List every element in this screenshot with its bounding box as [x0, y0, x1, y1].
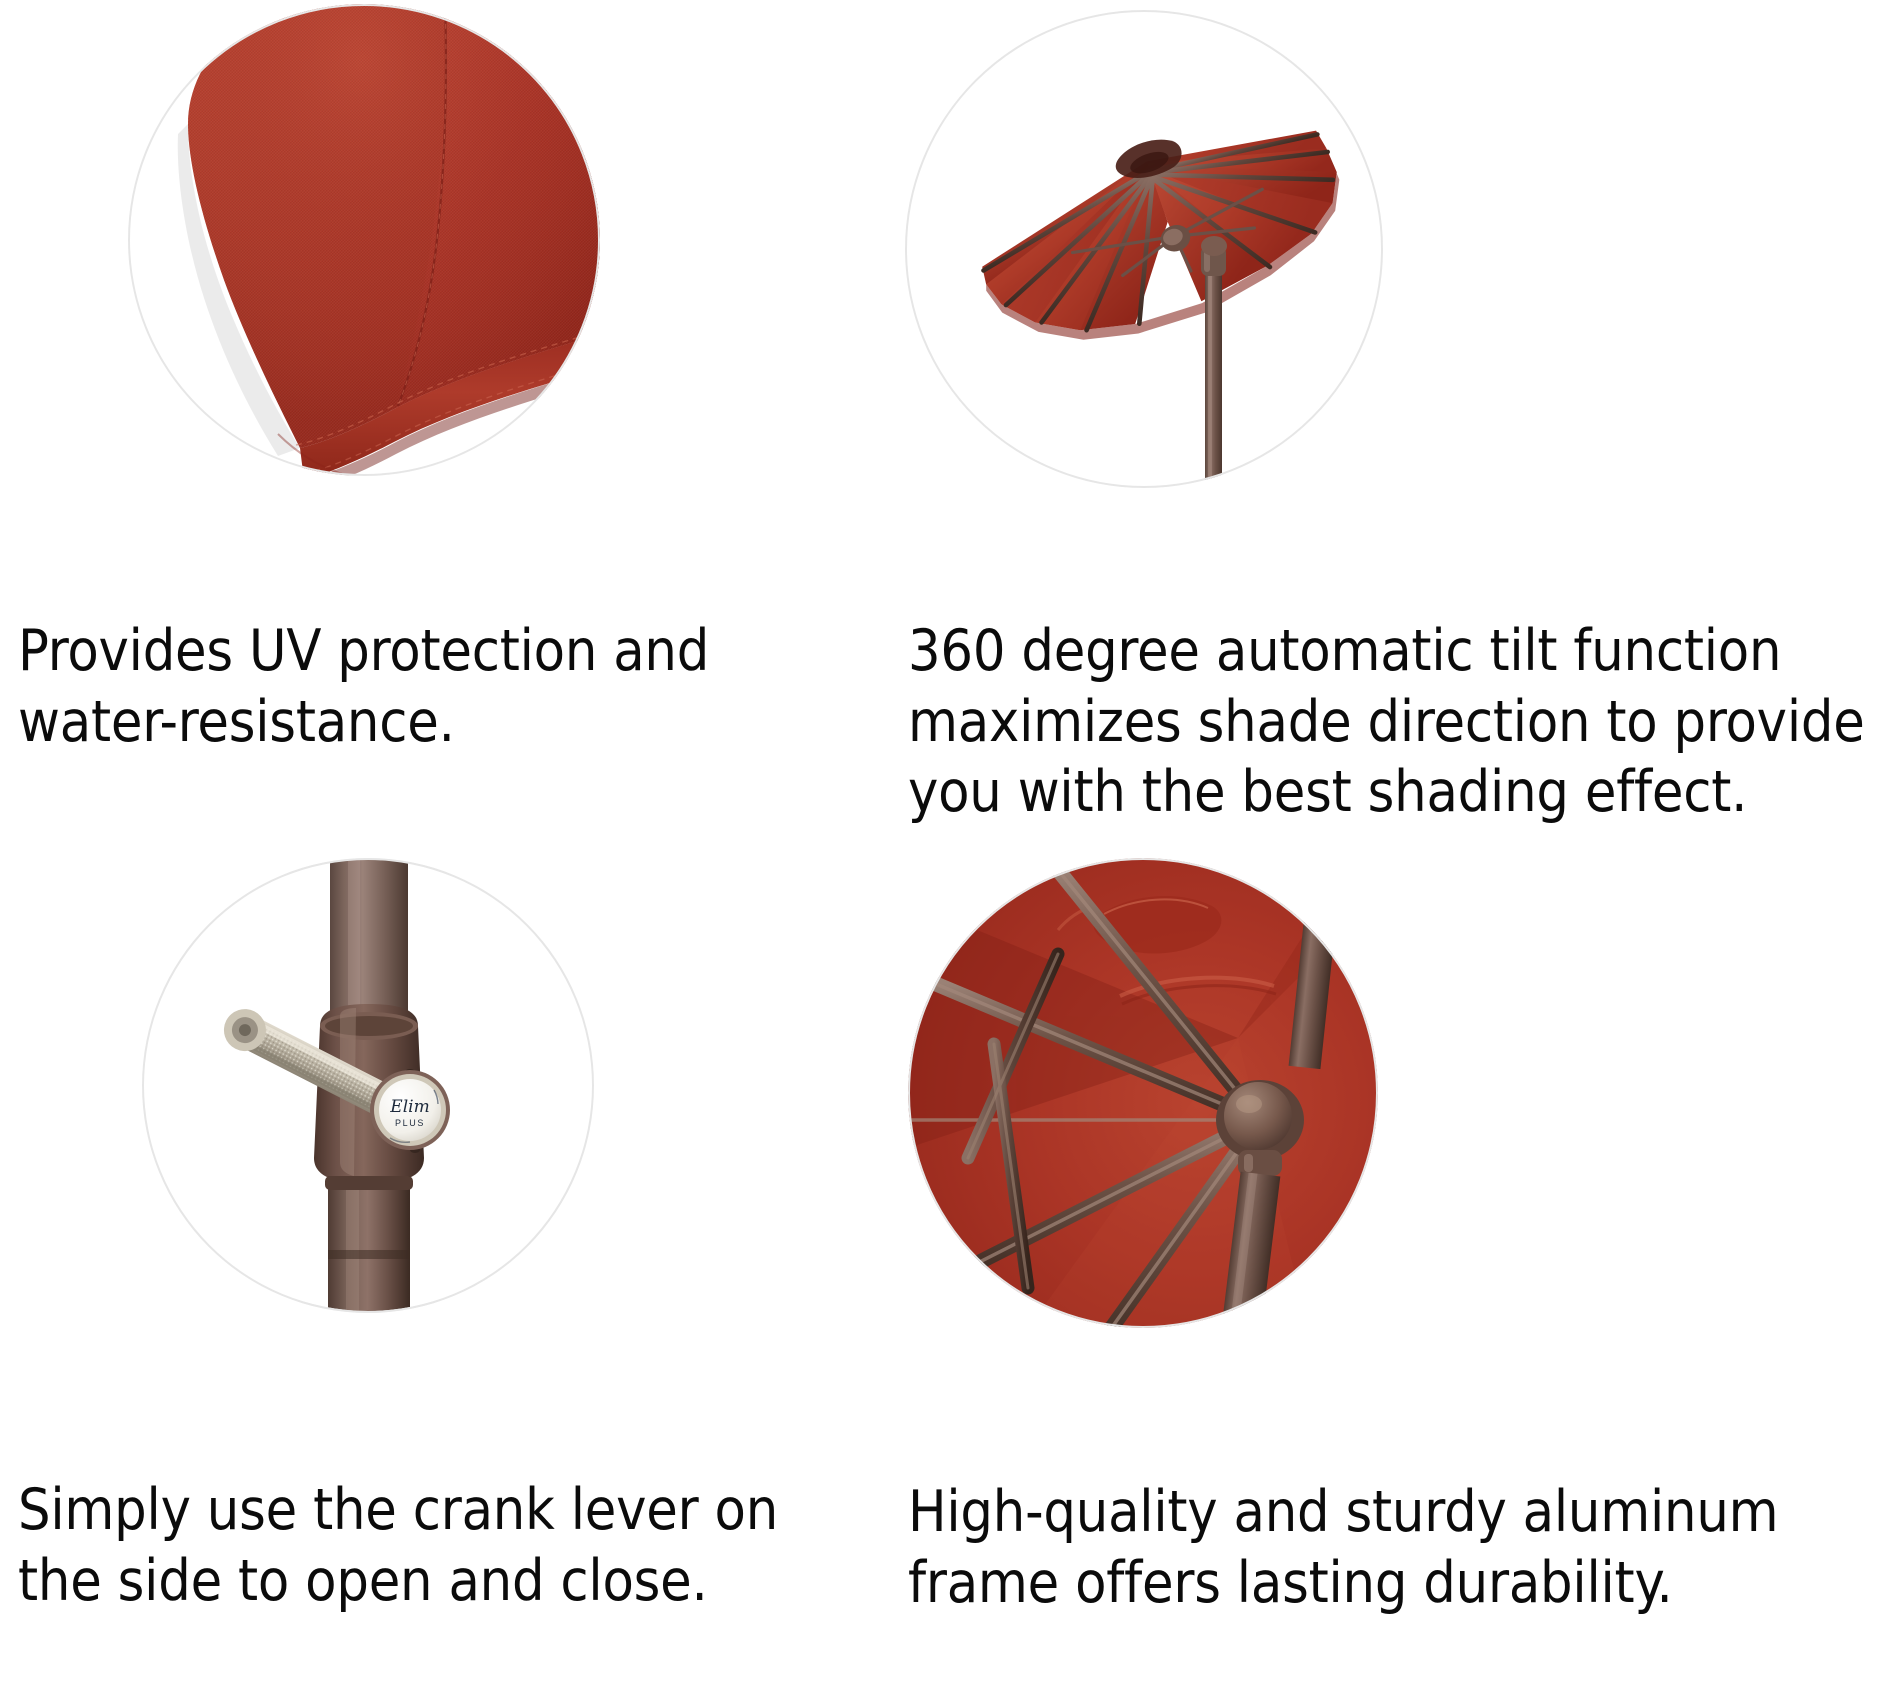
crank-lever-closeup-image: Elim PLUS: [142, 858, 594, 1313]
crank-brand-bottom: PLUS: [395, 1118, 425, 1128]
feature-grid: Provides UV protection and water-resista…: [0, 0, 1900, 1689]
feature-panel-top-left: Provides UV protection and water-resista…: [0, 0, 890, 845]
feature-panel-bottom-right: High-quality and sturdy aluminum frame o…: [890, 845, 1900, 1689]
canopy-underside-ribs-image: [908, 858, 1378, 1328]
caption-aluminum-frame: High-quality and sturdy aluminum frame o…: [908, 1477, 1890, 1618]
crank-brand-top: Elim: [389, 1097, 429, 1117]
caption-crank-lever: Simply use the crank lever on the side t…: [18, 1475, 880, 1616]
caption-tilt-function: 360 degree automatic tilt function maxim…: [908, 616, 1890, 828]
caption-uv-protection: Provides UV protection and water-resista…: [18, 616, 880, 757]
feature-panel-top-right: 360 degree automatic tilt function maxim…: [890, 0, 1900, 845]
feature-panel-bottom-left: Elim PLUS Simply use the crank lever on …: [0, 845, 890, 1689]
canopy-fabric-closeup-image: [128, 4, 600, 476]
umbrella-tilted-image: [905, 10, 1383, 488]
